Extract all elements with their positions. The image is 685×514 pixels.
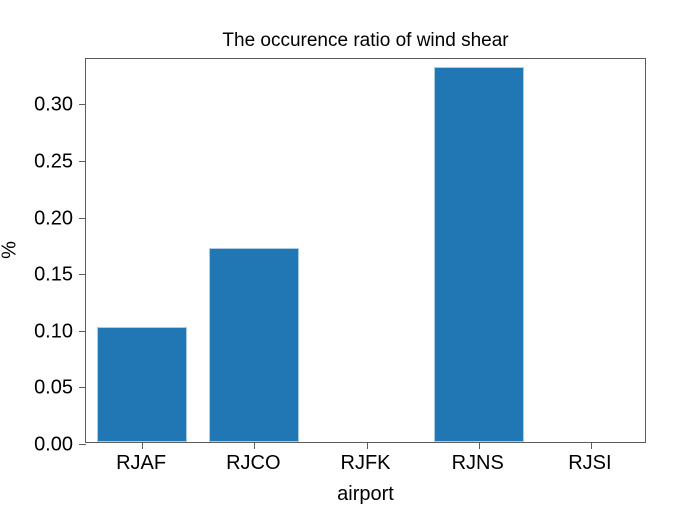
y-tick: 0.05	[79, 387, 86, 388]
y-tick-label: 0.15	[34, 264, 73, 287]
x-tick	[479, 442, 480, 449]
bar-rjns	[434, 67, 524, 442]
y-axis-label: %	[0, 238, 22, 262]
bar-chart-figure: The occurence ratio of wind shear warnin…	[0, 0, 685, 514]
y-tick: 0.25	[79, 161, 86, 162]
y-tick-label: 0.20	[34, 207, 73, 230]
y-tick-label: 0.00	[34, 434, 73, 457]
chart-title-line-1: The occurence ratio of wind shear	[222, 30, 508, 51]
x-tick	[591, 442, 592, 449]
y-tick: 0.10	[79, 331, 86, 332]
x-tick-label-rjfk: RJFK	[341, 452, 391, 475]
y-tick: 0.30	[79, 104, 86, 105]
bar-rjaf	[97, 327, 187, 443]
x-tick	[367, 442, 368, 449]
plot-area: 0.000.050.100.150.200.250.30	[85, 58, 646, 443]
bar-rjco	[209, 248, 299, 442]
y-tick: 0.20	[79, 218, 86, 219]
x-tick	[254, 442, 255, 449]
x-tick	[142, 442, 143, 449]
x-axis-label: airport	[85, 483, 646, 506]
x-tick-label-rjaf: RJAF	[116, 452, 166, 475]
y-tick-label: 0.10	[34, 320, 73, 343]
x-tick-label-rjsi: RJSI	[568, 452, 611, 475]
y-tick-label: 0.25	[34, 150, 73, 173]
x-tick-label-rjns: RJNS	[452, 452, 504, 475]
y-tick: 0.00	[79, 444, 86, 445]
y-tick-label: 0.05	[34, 377, 73, 400]
y-tick: 0.15	[79, 274, 86, 275]
x-tick-label-rjco: RJCO	[226, 452, 280, 475]
y-tick-label: 0.30	[34, 94, 73, 117]
bars-layer	[86, 59, 645, 442]
